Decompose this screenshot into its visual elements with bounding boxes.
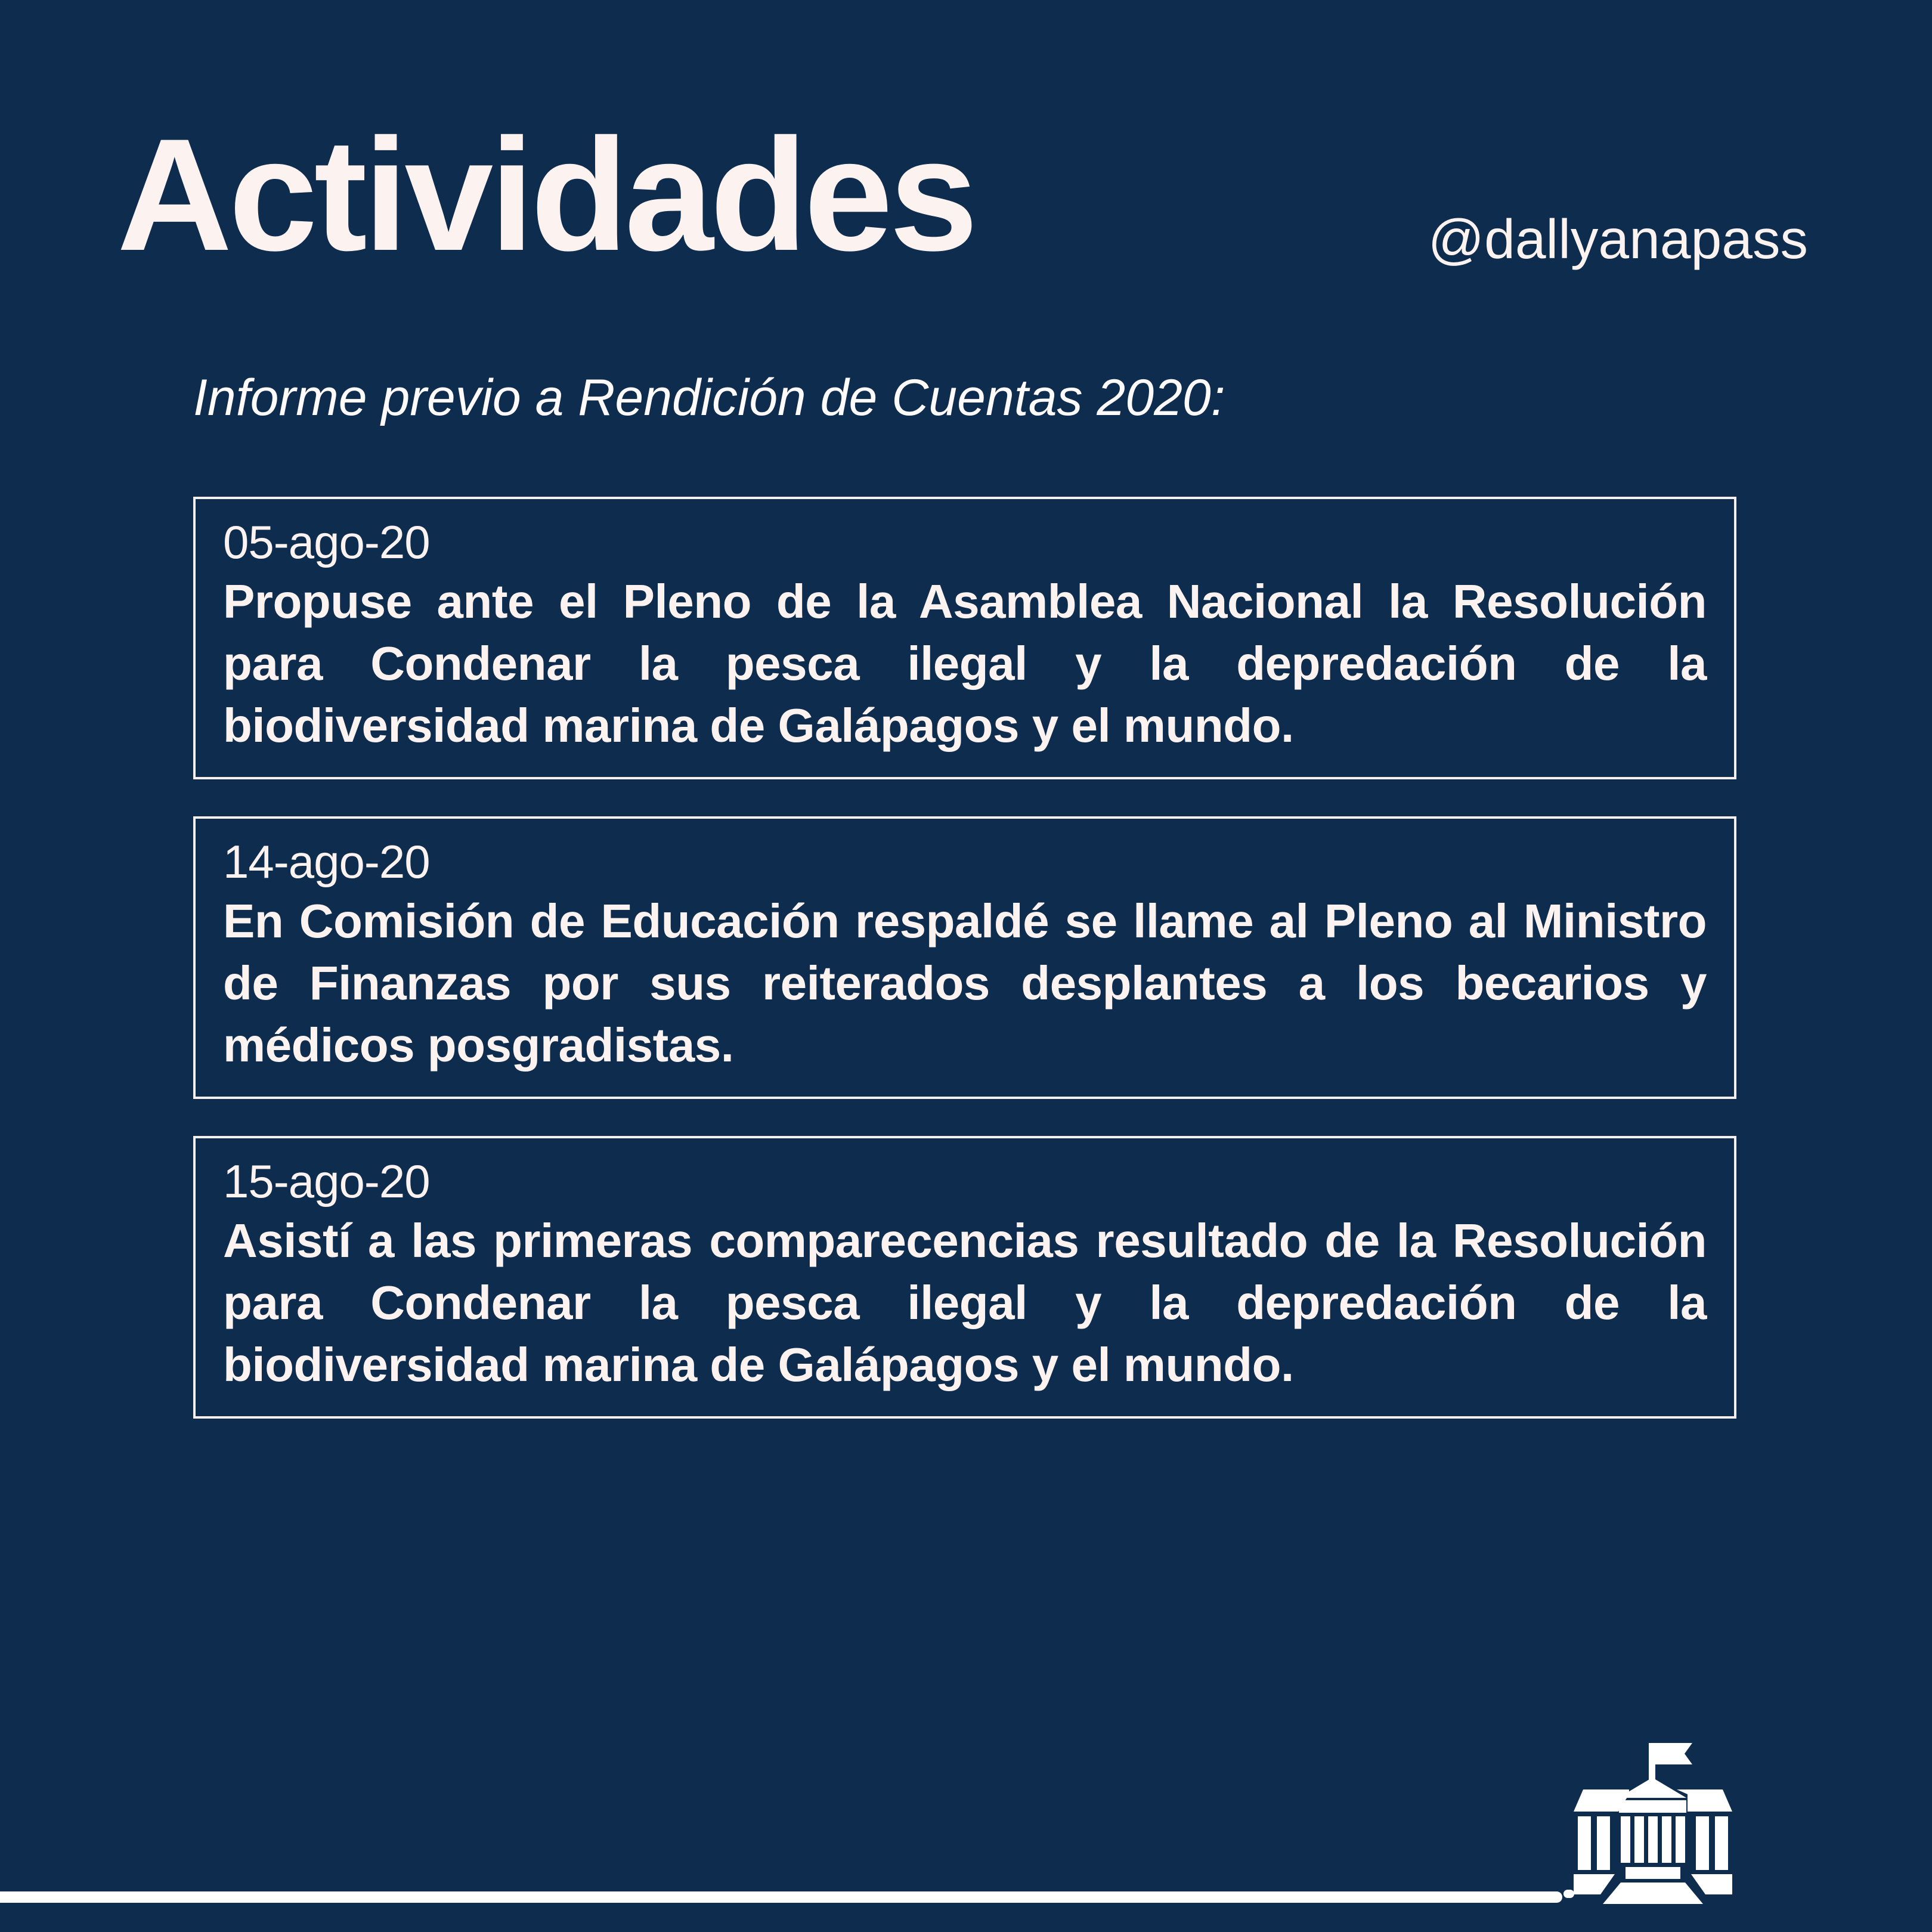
footer-divider [0,1891,1562,1903]
activity-date: 05-ago-20 [223,515,1707,569]
activity-date: 15-ago-20 [223,1154,1707,1209]
activity-description: Asistí a las primeras comparecencias res… [223,1210,1707,1396]
activity-card-list: 05-ago-20 Propuse ante el Pleno de la As… [193,497,1736,1456]
government-building-icon [1563,1732,1742,1904]
social-handle: @dallyanapass [1428,212,1808,267]
poster-canvas: Actividades @dallyanapass Informe previo… [0,0,1932,1932]
activity-date: 14-ago-20 [223,834,1707,889]
subtitle: Informe previo a Rendición de Cuentas 20… [193,370,1225,426]
activity-card: 14-ago-20 En Comisión de Educación respa… [193,816,1736,1099]
activity-description: Propuse ante el Pleno de la Asamblea Nac… [223,571,1707,757]
page-title: Actividades [117,114,974,274]
header: Actividades @dallyanapass [0,0,1932,334]
activity-card: 05-ago-20 Propuse ante el Pleno de la As… [193,497,1736,779]
activity-description: En Comisión de Educación respaldé se lla… [223,890,1707,1076]
activity-card: 15-ago-20 Asistí a las primeras comparec… [193,1136,1736,1419]
